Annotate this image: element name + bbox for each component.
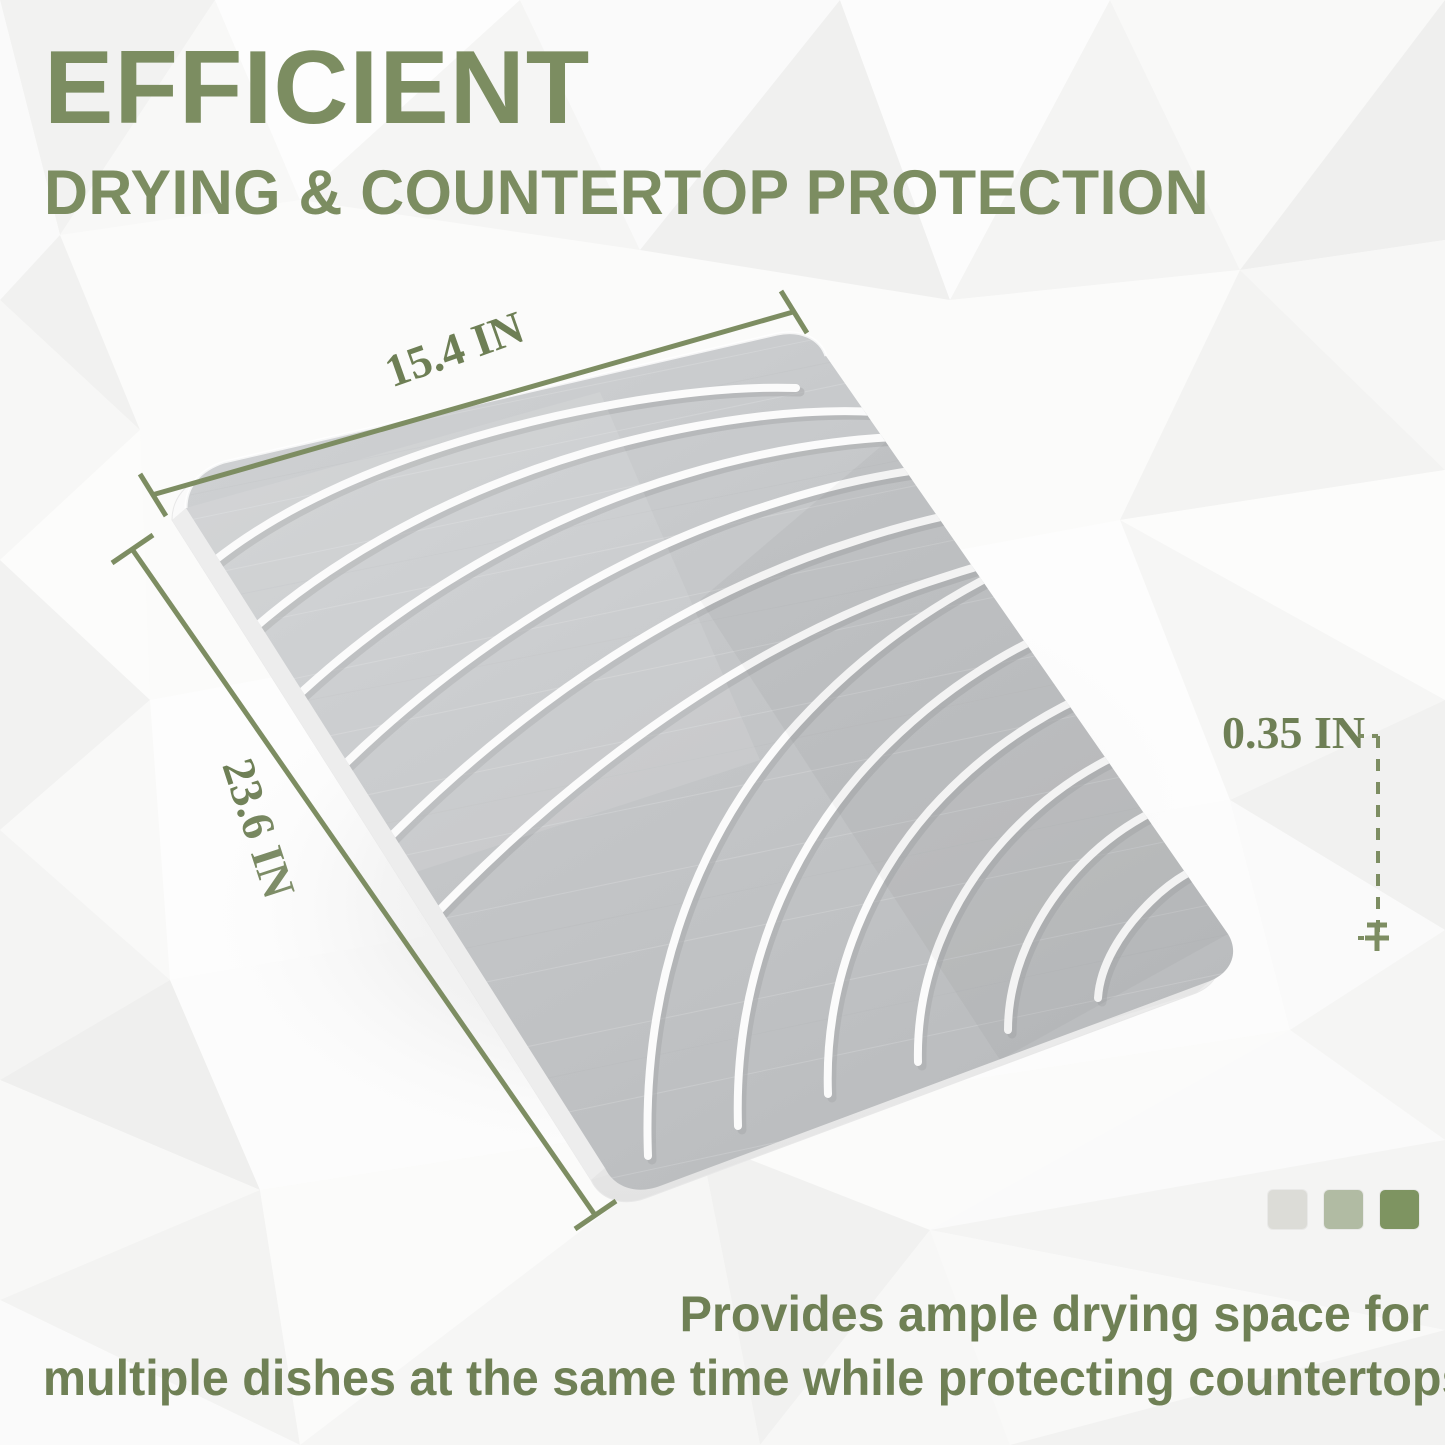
caption-line-2: multiple dishes at the same time while p… (43, 1347, 1429, 1411)
product-infographic: EFFICIENT DRYING & COUNTERTOP PROTECTION… (0, 0, 1445, 1445)
color-swatch-light-gray[interactable] (1268, 1190, 1307, 1229)
headline-primary: EFFICIENT (44, 36, 590, 140)
bottom-caption: Provides ample drying space for multiple… (0, 1283, 1445, 1410)
color-swatch-sage-green[interactable] (1324, 1190, 1363, 1229)
color-swatch-olive-green[interactable] (1380, 1190, 1419, 1229)
color-swatch-row (1268, 1190, 1419, 1229)
headline-secondary: DRYING & COUNTERTOP PROTECTION (44, 162, 1209, 225)
caption-line-1: Provides ample drying space for (43, 1283, 1429, 1347)
